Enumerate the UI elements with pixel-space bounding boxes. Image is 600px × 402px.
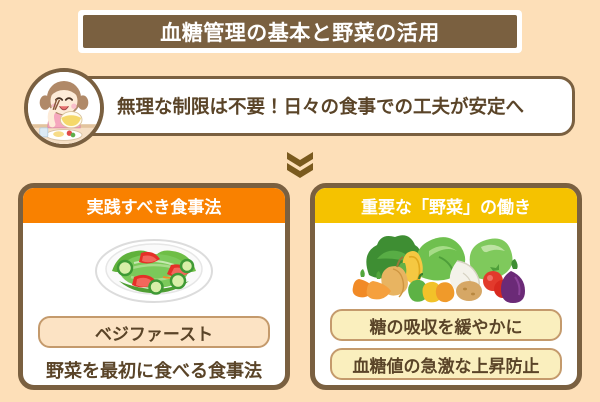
panel-header-text: 実践すべき食事法 — [87, 193, 222, 218]
lead-message-box: 無理な制限は不要！日々の食事での工夫が安定へ — [52, 76, 575, 136]
panel-header-text: 重要な「野菜」の働き — [361, 193, 531, 218]
panel-body-meal-method: ベジファースト 野菜を最初に食べる食事法 — [23, 223, 285, 385]
panel-vegetable-role: 重要な「野菜」の働き — [310, 183, 582, 390]
panel-header-meal-method: 実践すべき食事法 — [23, 188, 285, 223]
infographic-canvas: 血糖管理の基本と野菜の活用 無理な制限は不要！日々の食事での工夫が安定へ — [0, 0, 600, 402]
pill-label: ベジファースト — [95, 320, 213, 345]
title-text: 血糖管理の基本と野菜の活用 — [160, 17, 440, 47]
lead-message-text: 無理な制限は不要！日々の食事での工夫が安定へ — [117, 93, 524, 119]
woman-eating-meal-icon — [24, 68, 104, 148]
double-chevron-down-icon — [283, 150, 317, 178]
page-title: 血糖管理の基本と野菜の活用 — [78, 10, 522, 53]
panel-meal-method: 実践すべき食事法 — [18, 183, 290, 390]
salad-plate-icon — [79, 225, 229, 309]
pill-prevent-blood-sugar-spike: 血糖値の急激な上昇防止 — [330, 348, 562, 380]
pill-label: 糖の吸収を緩やかに — [370, 313, 523, 338]
pill-veggie-first: ベジファースト — [38, 316, 270, 348]
panel-header-vegetable-role: 重要な「野菜」の働き — [315, 188, 577, 223]
panel-body-vegetable-role: 糖の吸収を緩やかに 血糖値の急激な上昇防止 — [315, 223, 577, 385]
pill-label: 血糖値の急激な上昇防止 — [353, 352, 540, 377]
assorted-vegetables-icon — [351, 223, 541, 303]
title-bar: 血糖管理の基本と野菜の活用 — [83, 15, 517, 48]
pill-slow-sugar-absorption: 糖の吸収を緩やかに — [330, 309, 562, 341]
panel-caption-meal-method: 野菜を最初に食べる食事法 — [46, 357, 262, 383]
